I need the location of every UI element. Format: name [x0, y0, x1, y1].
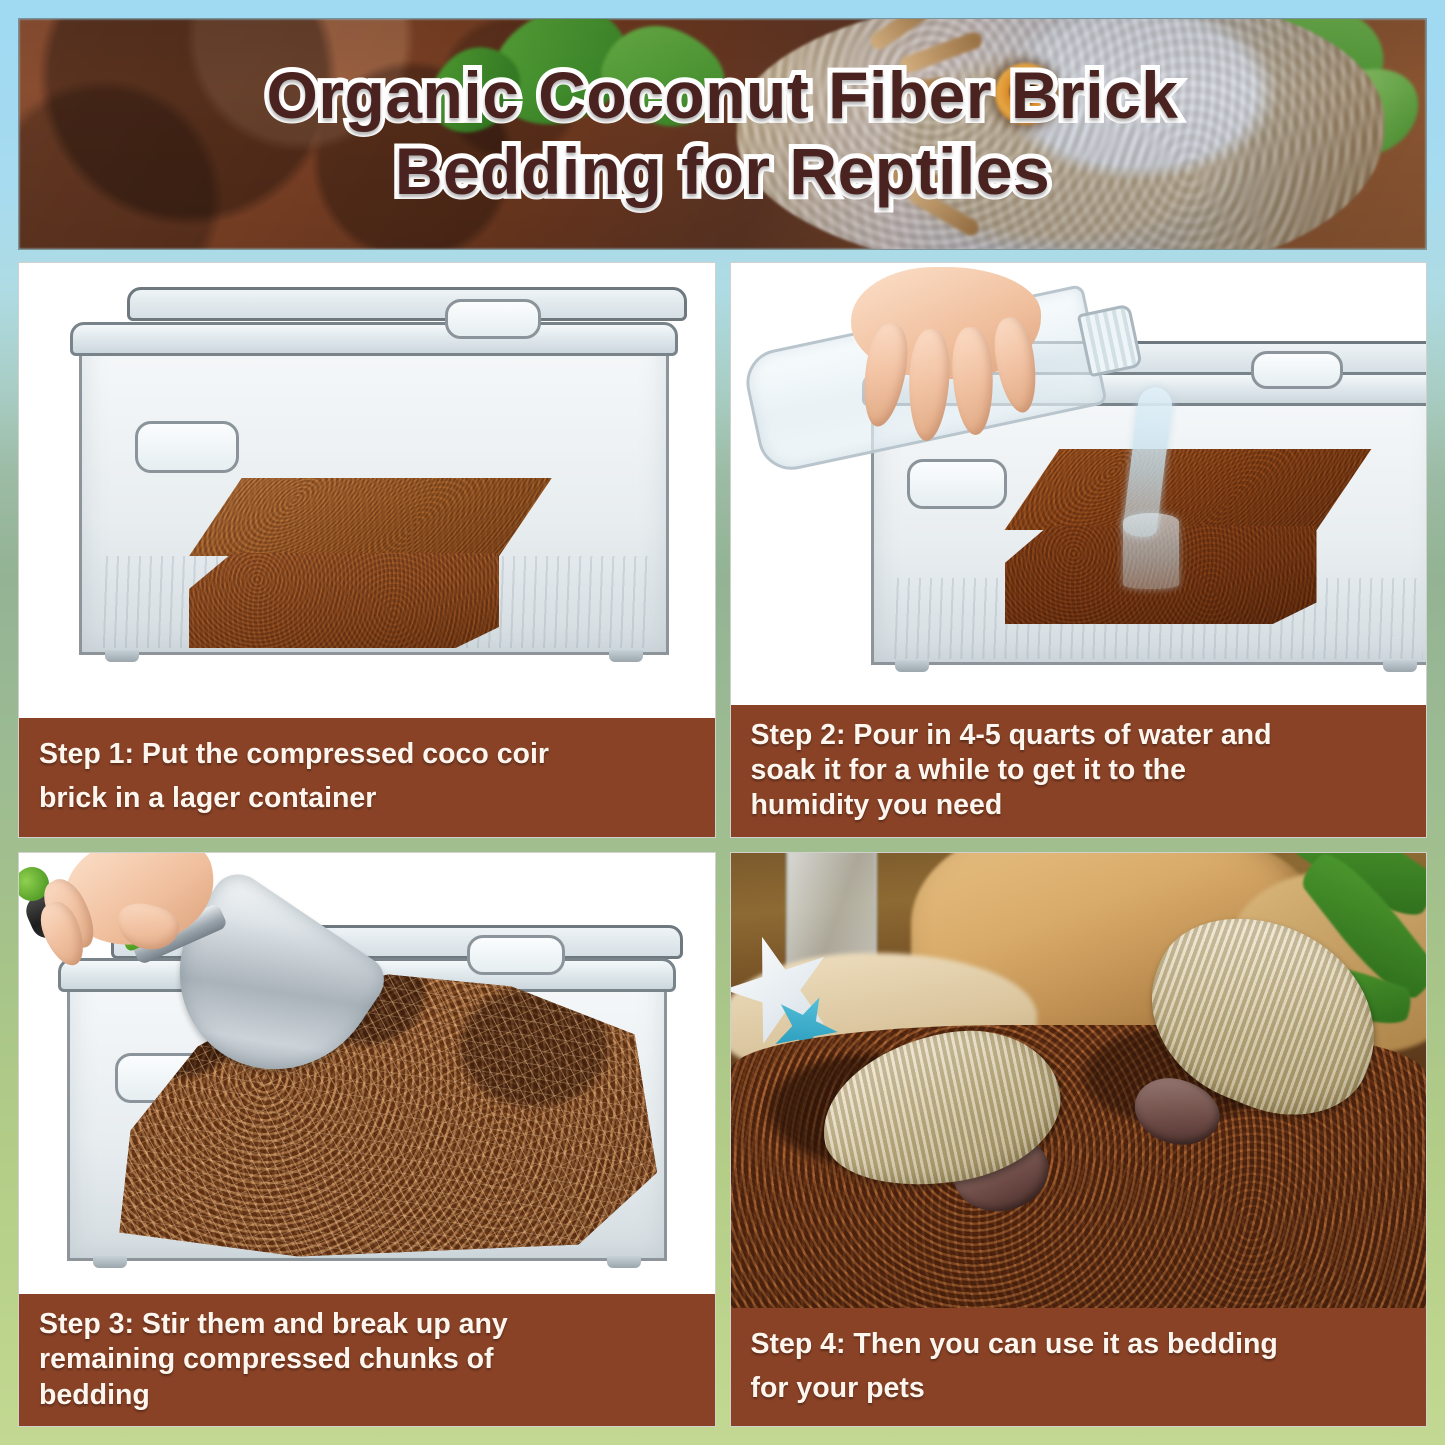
bin-handle-back — [1251, 351, 1343, 389]
step-1-photo — [19, 263, 715, 718]
hand — [827, 267, 1087, 447]
bin-handle-back — [467, 935, 565, 975]
brick-texture — [189, 553, 499, 648]
coco-coir-brick — [189, 478, 499, 648]
step-1-caption: Step 1: Put the compressed coco coir bri… — [19, 718, 715, 836]
brick-texture — [1005, 449, 1371, 530]
caption-line: brick in a lager container — [39, 776, 695, 820]
infographic-sheet: Organic Coconut Fiber Brick Bedding for … — [0, 0, 1445, 1445]
page-title: Organic Coconut Fiber Brick Bedding for … — [19, 19, 1426, 249]
bin-handle-front — [907, 459, 1007, 509]
water-stream-splash — [1123, 513, 1179, 589]
step-panel-1: Step 1: Put the compressed coco coir bri… — [18, 262, 716, 838]
hand — [25, 853, 225, 993]
step-4-photo — [731, 853, 1427, 1308]
header-banner: Organic Coconut Fiber Brick Bedding for … — [18, 18, 1427, 250]
step-3-photo — [19, 853, 715, 1295]
caption-line: Step 3: Stir them and break up any — [39, 1307, 695, 1342]
brick-top-face — [1005, 449, 1371, 530]
brick-texture — [189, 478, 552, 556]
bin-rim-back — [127, 287, 687, 321]
caption-line: Step 4: Then you can use it as bedding — [751, 1322, 1407, 1366]
brick-front-face — [189, 553, 499, 648]
terrarium-scene — [731, 853, 1427, 1308]
step-panel-3: Step 3: Stir them and break up any remai… — [18, 852, 716, 1428]
bin-handle-back — [445, 299, 541, 339]
bin-foot — [607, 1256, 641, 1268]
step-2-caption: Step 2: Pour in 4-5 quarts of water and … — [731, 705, 1427, 837]
bin-foot — [105, 650, 139, 662]
bin-foot — [93, 1256, 127, 1268]
step-2-photo — [731, 263, 1427, 705]
caption-line: Step 1: Put the compressed coco coir — [39, 732, 695, 776]
title-line-2: Bedding for Reptiles — [395, 135, 1050, 209]
caption-line: bedding — [39, 1378, 695, 1413]
bin-foot — [895, 660, 929, 672]
title-line-1: Organic Coconut Fiber Brick — [267, 59, 1179, 133]
caption-line: for your pets — [751, 1366, 1407, 1410]
bin-handle-front — [135, 421, 239, 473]
caption-line: soak it for a while to get it to the — [751, 753, 1407, 788]
step-panel-4: Step 4: Then you can use it as bedding f… — [730, 852, 1428, 1428]
step-grid: Step 1: Put the compressed coco coir bri… — [18, 262, 1427, 1427]
bin-foot — [1383, 660, 1417, 672]
step-panel-2: Step 2: Pour in 4-5 quarts of water and … — [730, 262, 1428, 838]
bin-foot — [609, 650, 643, 662]
brick-top-face — [189, 478, 552, 556]
step-4-caption: Step 4: Then you can use it as bedding f… — [731, 1308, 1427, 1426]
caption-line: Step 2: Pour in 4-5 quarts of water and — [751, 718, 1407, 753]
bin-rim-front — [70, 322, 678, 356]
caption-line: humidity you need — [751, 788, 1407, 823]
caption-line: remaining compressed chunks of — [39, 1342, 695, 1377]
step-3-caption: Step 3: Stir them and break up any remai… — [19, 1294, 715, 1426]
